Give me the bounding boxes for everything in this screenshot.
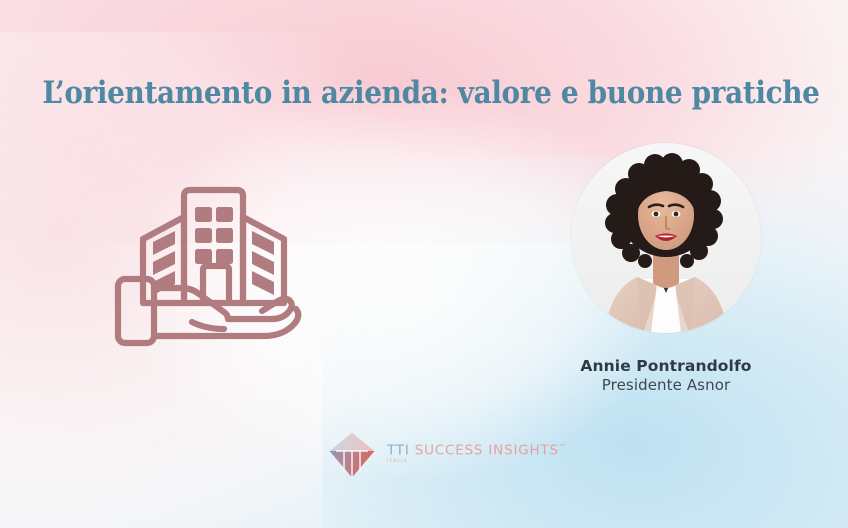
speaker-role: Presidente Asnor <box>556 376 776 395</box>
logo-tagline: ITALIA <box>387 460 567 465</box>
logo-brand-secondary: SUCCESS INSIGHTS <box>415 442 559 458</box>
presentation-slide: L’orientamento in azienda: valore e buon… <box>0 0 848 528</box>
logo-wordmark-group: TTI SUCCESS INSIGHTS™ ITALIA <box>387 444 567 467</box>
tti-success-insights-logo: TTI SUCCESS INSIGHTS™ ITALIA <box>326 427 526 483</box>
tti-diamond-logo-icon <box>326 429 378 481</box>
speaker-card: Annie Pontrandolfo Presidente Asnor <box>556 143 776 395</box>
slide-title: L’orientamento in azienda: valore e buon… <box>42 75 805 111</box>
hand-holding-office-building-icon <box>112 162 320 360</box>
logo-wordmark: TTI SUCCESS INSIGHTS™ <box>387 444 567 458</box>
logo-brand-primary: TTI <box>387 442 410 458</box>
speaker-details: Annie Pontrandolfo Presidente Asnor <box>556 357 776 395</box>
speaker-portrait <box>571 143 761 333</box>
speaker-name: Annie Pontrandolfo <box>556 357 776 376</box>
logo-trademark-icon: ™ <box>559 443 567 451</box>
